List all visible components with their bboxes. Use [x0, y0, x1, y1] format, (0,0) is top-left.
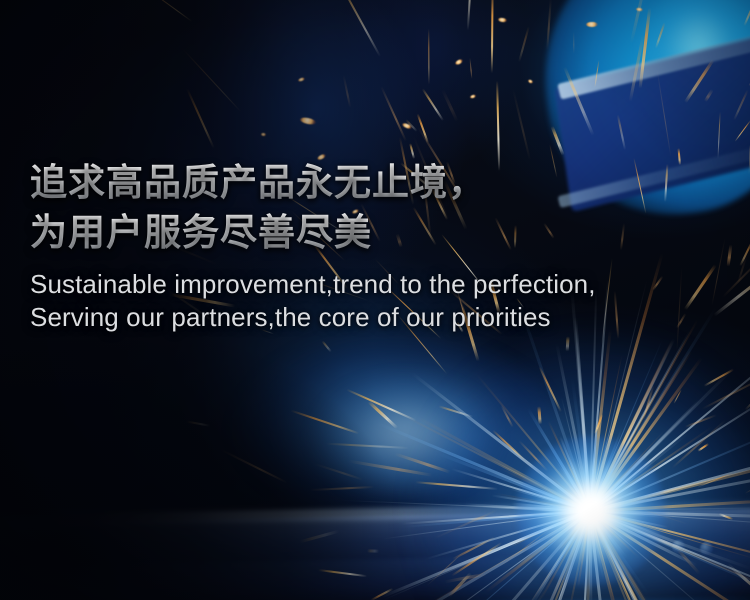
- spark-streak: [422, 88, 444, 121]
- headline-cn-line-1: 追求高品质产品永无止境，: [30, 158, 730, 208]
- spark-streak: [380, 86, 407, 142]
- molten-spark-blob: [455, 58, 464, 65]
- spark-streak: [467, 0, 474, 30]
- spark-streak: [186, 88, 215, 148]
- spark-streak: [186, 421, 210, 427]
- molten-spark-blob: [586, 22, 598, 27]
- spark-streak: [441, 89, 458, 122]
- molten-spark-blob: [498, 17, 507, 22]
- subhead-en-line-2: Serving our partners,the core of our pri…: [30, 301, 730, 334]
- spark-streak: [143, 0, 192, 22]
- banner-text-block: 追求高品质产品永无止境， 为用户服务尽善尽美 Sustainable impro…: [30, 158, 730, 334]
- molten-spark-blob: [261, 133, 266, 137]
- headline-cn-line-2: 为用户服务尽善尽美: [30, 208, 730, 258]
- spark-streak: [469, 58, 472, 79]
- spark-streak: [338, 0, 381, 57]
- spark-streak: [182, 48, 241, 112]
- molten-spark-blob: [300, 116, 317, 125]
- molten-spark-blob: [298, 77, 306, 82]
- spark-streak: [343, 75, 351, 108]
- spark-streak: [367, 550, 379, 553]
- molten-spark-blob: [528, 79, 534, 84]
- welding-banner: 追求高品质产品永无止境， 为用户服务尽善尽美 Sustainable impro…: [0, 0, 750, 600]
- spark-streak: [512, 89, 531, 160]
- subhead-en-line-1: Sustainable improvement,trend to the per…: [30, 268, 730, 301]
- spark-streak: [518, 26, 530, 62]
- spark-streak: [409, 143, 415, 159]
- molten-spark-blob: [470, 94, 477, 99]
- spark-streak: [428, 29, 429, 85]
- spark-streak: [491, 0, 494, 73]
- spark-burst-core: [516, 436, 666, 586]
